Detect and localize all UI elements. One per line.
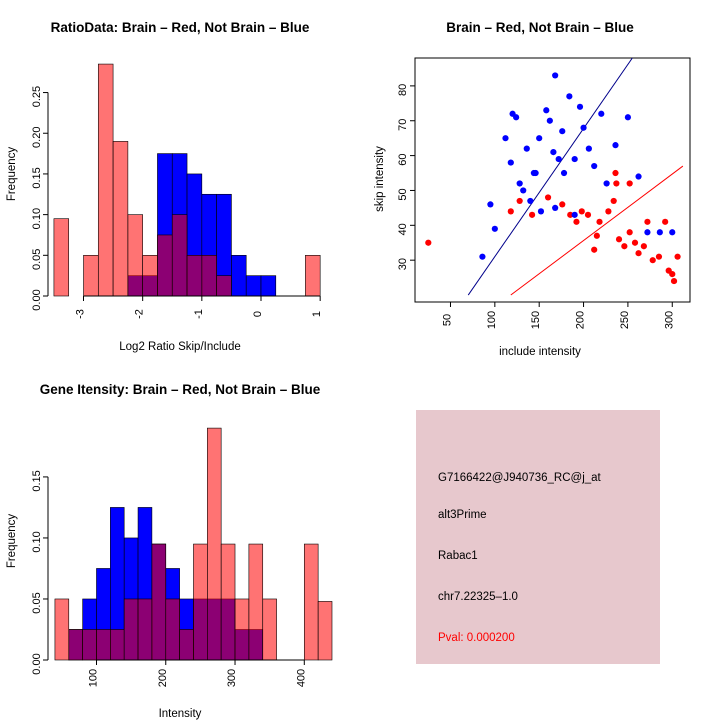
axis-tick-label: 70 bbox=[397, 119, 409, 131]
panel-hist-intensity: Gene Itensity: Brain – Red, Not Brain – … bbox=[0, 360, 360, 720]
histogram-bar bbox=[69, 629, 83, 660]
scatter-point bbox=[669, 229, 675, 235]
scatter-point bbox=[598, 111, 604, 117]
axis-tick-label: 50 bbox=[441, 314, 453, 326]
info-box: G7166422@J940736_RC@j_at alt3Prime Rabac… bbox=[416, 410, 660, 664]
scatter-point bbox=[572, 212, 578, 218]
scatter-point bbox=[536, 135, 542, 141]
scatter-point bbox=[612, 170, 618, 176]
scatter-point bbox=[616, 236, 622, 242]
histogram-bar bbox=[54, 219, 69, 296]
axis-tick-label: -1 bbox=[193, 309, 205, 319]
histogram-bar bbox=[246, 276, 261, 296]
scatter-point bbox=[641, 243, 647, 249]
hist-intensity-svg: 0.000.050.100.15100200300400 bbox=[0, 360, 360, 720]
axis-tick-label: 0.05 bbox=[31, 249, 43, 270]
scatter-point bbox=[487, 201, 493, 207]
scatter-point bbox=[635, 250, 641, 256]
scatter-svg: 50100150200250300304050607080 bbox=[360, 0, 720, 360]
scatter-point bbox=[604, 180, 610, 186]
scatter-point bbox=[425, 240, 431, 246]
scatter-point bbox=[580, 125, 586, 131]
scatter-point bbox=[627, 229, 633, 235]
scatter-point bbox=[594, 233, 600, 239]
scatter-point bbox=[644, 229, 650, 235]
regression-line bbox=[511, 166, 683, 295]
histogram-bar bbox=[128, 215, 143, 296]
scatter-point bbox=[669, 271, 675, 277]
axis-tick-label: 40 bbox=[397, 223, 409, 235]
scatter-point bbox=[611, 198, 617, 204]
scatter-point bbox=[559, 201, 565, 207]
scatter-point bbox=[561, 170, 567, 176]
scatter-point bbox=[479, 254, 485, 260]
histogram-bar bbox=[157, 235, 172, 296]
scatter-point bbox=[621, 243, 627, 249]
scatter-point bbox=[657, 229, 663, 235]
histogram-bar bbox=[84, 255, 99, 296]
scatter-point bbox=[533, 170, 539, 176]
histogram-bar bbox=[55, 599, 69, 660]
scatter-point bbox=[513, 114, 519, 120]
scatter-point bbox=[596, 219, 602, 225]
scatter-point bbox=[577, 104, 583, 110]
scatter-point bbox=[674, 254, 680, 260]
axis-tick-label: 250 bbox=[619, 311, 631, 329]
histogram-bar bbox=[96, 629, 110, 660]
axis-tick-label: 30 bbox=[397, 258, 409, 270]
axis-tick-label: 0.25 bbox=[31, 86, 43, 107]
histogram-bar bbox=[304, 544, 318, 660]
histogram-bar bbox=[305, 255, 320, 296]
histogram-bar bbox=[261, 276, 276, 296]
scatter-point bbox=[579, 208, 585, 214]
axis-tick-label: 100 bbox=[486, 311, 498, 329]
plot-page: RatioData: Brain – Red, Not Brain – Blue… bbox=[0, 0, 720, 720]
histogram-bar bbox=[124, 599, 138, 660]
histogram-bar bbox=[180, 629, 194, 660]
scatter-point bbox=[566, 93, 572, 99]
axis-tick-label: 0.00 bbox=[31, 653, 43, 674]
scatter-point bbox=[524, 146, 530, 152]
scatter-point bbox=[605, 208, 611, 214]
info-line-gene: Rabac1 bbox=[438, 550, 478, 562]
info-line-event-type: alt3Prime bbox=[438, 509, 487, 521]
axis-tick-label: 60 bbox=[397, 153, 409, 165]
scatter-point bbox=[556, 156, 562, 162]
axis-tick-label: 200 bbox=[157, 669, 169, 687]
axis-tick-label: -3 bbox=[75, 309, 87, 319]
scatter-point bbox=[508, 159, 514, 165]
axis-tick-label: 0.10 bbox=[31, 531, 43, 552]
histogram-bar bbox=[235, 599, 249, 660]
plot-border bbox=[415, 58, 690, 302]
scatter-point bbox=[656, 254, 662, 260]
scatter-point bbox=[550, 149, 556, 155]
scatter-point bbox=[543, 107, 549, 113]
scatter-point bbox=[572, 156, 578, 162]
panel-scatter: Brain – Red, Not Brain – Blue include in… bbox=[360, 0, 720, 360]
hist-ratio-plot-area: 0.000.050.100.150.200.25-3-2-101 bbox=[31, 64, 323, 319]
scatter-point bbox=[632, 240, 638, 246]
histogram-bar bbox=[263, 599, 277, 660]
scatter-point bbox=[527, 198, 533, 204]
scatter-point bbox=[520, 187, 526, 193]
axis-tick-label: 0.20 bbox=[31, 127, 43, 148]
axis-tick-label: 200 bbox=[575, 311, 587, 329]
scatter-point bbox=[635, 173, 641, 179]
panel-hist-ratio: RatioData: Brain – Red, Not Brain – Blue… bbox=[0, 0, 360, 360]
axis-tick-label: 100 bbox=[87, 669, 99, 687]
axis-tick-label: 300 bbox=[226, 669, 238, 687]
histogram-bar bbox=[217, 276, 232, 296]
hist-intensity-plot-area: 0.000.050.100.15100200300400 bbox=[31, 428, 332, 687]
histogram-bar bbox=[193, 544, 207, 660]
histogram-bar bbox=[110, 629, 124, 660]
scatter-point bbox=[508, 208, 514, 214]
histogram-bar bbox=[231, 255, 246, 296]
histogram-bar bbox=[152, 544, 166, 660]
histogram-bar bbox=[143, 255, 158, 296]
scatter-point bbox=[591, 247, 597, 253]
scatter-point bbox=[585, 212, 591, 218]
histogram-bar bbox=[221, 544, 235, 660]
axis-tick-label: 400 bbox=[295, 669, 307, 687]
regression-line bbox=[468, 58, 632, 295]
axis-tick-label: 0.05 bbox=[31, 592, 43, 613]
scatter-point bbox=[650, 257, 656, 263]
scatter-point bbox=[625, 114, 631, 120]
info-line-pval: Pval: 0.000200 bbox=[438, 632, 515, 644]
axis-tick-label: 0.15 bbox=[31, 470, 43, 491]
scatter-point bbox=[517, 180, 523, 186]
axis-tick-label: 0 bbox=[252, 311, 264, 317]
histogram-bar bbox=[83, 629, 97, 660]
scatter-points-group bbox=[425, 58, 683, 295]
axis-tick-label: -2 bbox=[134, 309, 146, 319]
scatter-point bbox=[552, 205, 558, 211]
scatter-point bbox=[492, 226, 498, 232]
scatter-point bbox=[538, 208, 544, 214]
histogram-bar bbox=[113, 141, 128, 296]
scatter-point bbox=[662, 219, 668, 225]
scatter-point bbox=[573, 219, 579, 225]
scatter-point bbox=[644, 219, 650, 225]
axis-tick-label: 300 bbox=[663, 311, 675, 329]
axis-tick-label: 150 bbox=[530, 311, 542, 329]
histogram-bar bbox=[98, 64, 113, 296]
scatter-point bbox=[517, 198, 523, 204]
histogram-bar bbox=[249, 544, 263, 660]
scatter-point bbox=[529, 212, 535, 218]
axis-tick-label: 1 bbox=[311, 311, 323, 317]
histogram-bar bbox=[318, 601, 332, 660]
scatter-point bbox=[545, 194, 551, 200]
hist-ratio-svg: 0.000.050.100.150.200.25-3-2-101 bbox=[0, 0, 360, 360]
histogram-bar bbox=[187, 255, 202, 296]
scatter-point bbox=[559, 128, 565, 134]
axis-tick-label: 0.15 bbox=[31, 167, 43, 188]
scatter-point bbox=[612, 142, 618, 148]
axis-tick-label: 80 bbox=[397, 84, 409, 96]
histogram-bar bbox=[172, 215, 187, 296]
scatter-point bbox=[586, 146, 592, 152]
scatter-point bbox=[502, 135, 508, 141]
histogram-bar bbox=[138, 599, 152, 660]
scatter-point bbox=[552, 72, 558, 78]
info-line-locus: chr7.22325–1.0 bbox=[438, 591, 518, 603]
axis-tick-label: 0.00 bbox=[31, 289, 43, 310]
scatter-point bbox=[627, 180, 633, 186]
scatter-point bbox=[613, 180, 619, 186]
histogram-bar bbox=[166, 599, 180, 660]
histogram-bar bbox=[207, 428, 221, 660]
scatter-point bbox=[547, 118, 553, 124]
scatter-point bbox=[671, 278, 677, 284]
histogram-bar bbox=[202, 255, 217, 296]
scatter-point bbox=[591, 163, 597, 169]
axis-tick-label: 50 bbox=[397, 188, 409, 200]
axis-tick-label: 0.10 bbox=[31, 208, 43, 229]
scatter-plot-area: 50100150200250300304050607080 bbox=[397, 58, 690, 329]
info-line-probe: G7166422@J940736_RC@j_at bbox=[438, 472, 601, 484]
